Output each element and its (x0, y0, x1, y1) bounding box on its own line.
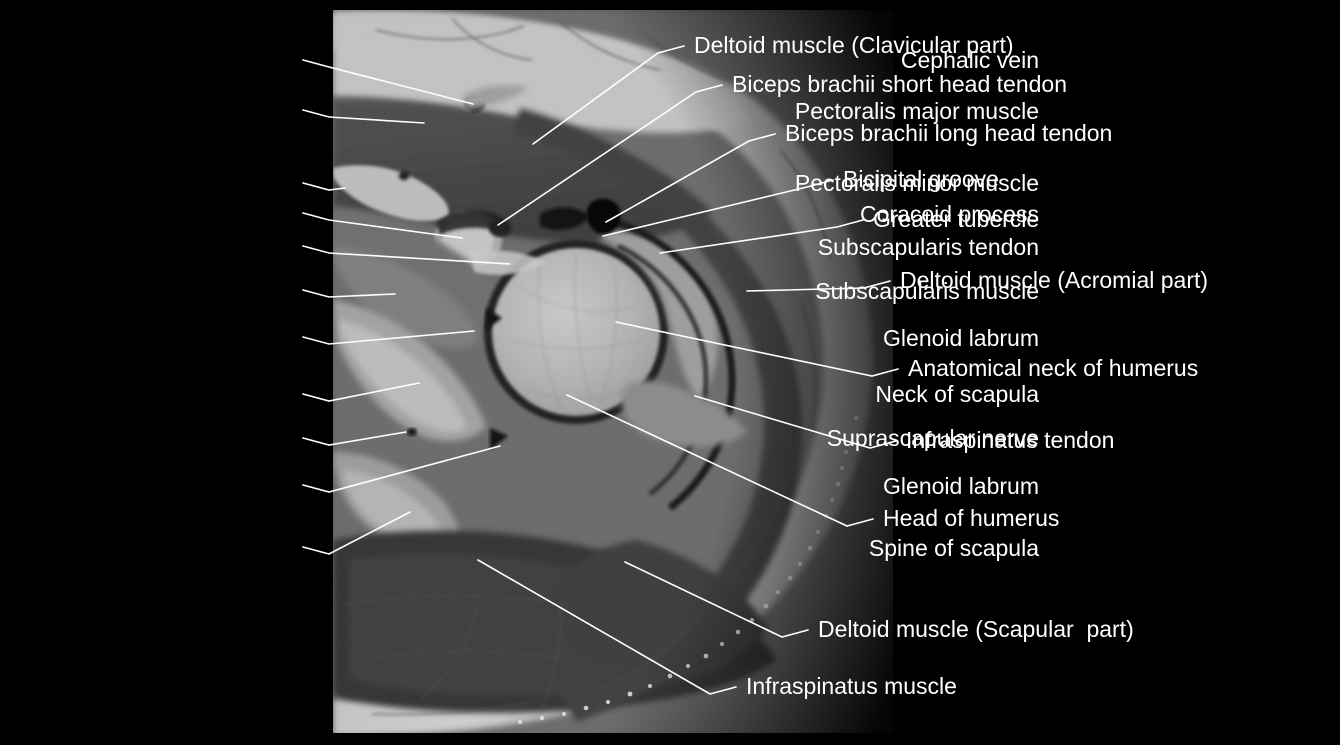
label-bicipital-groove-right-3: Bicipital groove (843, 168, 999, 191)
label-anatomical-neck-of-humerus-right-6: Anatomical neck of humerus (908, 357, 1198, 380)
label-head-of-humerus-right-8: Head of humerus (883, 507, 1059, 530)
label-deltoid-muscle-clavicular-part-right-0: Deltoid muscle (Clavicular part) (694, 34, 1014, 57)
label-infraspinatus-muscle-right-10: Infraspinatus muscle (746, 675, 957, 698)
label-deltoid-muscle-scapular-part-right-9: Deltoid muscle (Scapular part) (818, 618, 1134, 641)
label-spine-of-scapula-left-10: Spine of scapula (869, 537, 1039, 560)
label-greater-tubercle-right-4: Greater tubercle (873, 208, 1039, 231)
label-glenoid-labrum-left-6: Glenoid labrum (883, 327, 1039, 350)
label-biceps-brachii-long-head-tendon-right-2: Biceps brachii long head tendon (785, 122, 1112, 145)
label-infraspinatus-tendon-right-7: Infraspinatus tendon (906, 429, 1114, 452)
label-glenoid-labrum-left-9: Glenoid labrum (883, 475, 1039, 498)
label-biceps-brachii-short-head-tendon-right-1: Biceps brachii short head tendon (732, 73, 1067, 96)
label-deltoid-muscle-acromial-part-right-5: Deltoid muscle (Acromial part) (900, 269, 1208, 292)
label-subscapularis-tendon-left-4: Subscapularis tendon (818, 236, 1039, 259)
figure-canvas: Cephalic veinPectoralis major musclePect… (0, 0, 1340, 745)
label-neck-of-scapula-left-7: Neck of scapula (875, 383, 1039, 406)
